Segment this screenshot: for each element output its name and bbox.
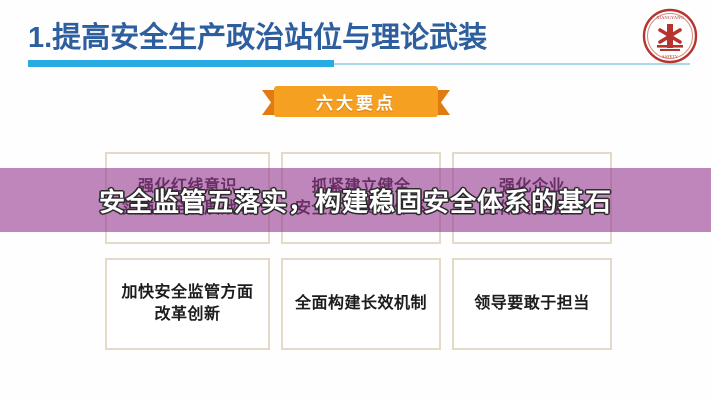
ribbon-body: 六大要点 xyxy=(274,86,438,117)
diagram-box-line: 领导要敢于担当 xyxy=(474,293,590,315)
caption-overlay-band: 安全监管五落实，构建稳固安全体系的基石 xyxy=(0,168,711,232)
diagram-box: 全面构建长效机制 xyxy=(281,258,441,350)
diagram-box-line: 改革创新 xyxy=(154,304,220,326)
company-seal-icon: XIANGYANG SAFETY xyxy=(642,8,698,64)
diagram-box-line: 加快安全监管方面 xyxy=(121,282,253,304)
section-ribbon: 六大要点 xyxy=(262,86,450,117)
ribbon-label: 六大要点 xyxy=(316,89,396,114)
diagram-box: 领导要敢于担当 xyxy=(452,258,612,350)
page-title: 1.提高安全生产政治站位与理论武装 xyxy=(28,14,487,56)
slide-canvas: 1.提高安全生产政治站位与理论武装 XIANGYANG SAFETY 六大要点 … xyxy=(0,0,711,400)
diagram-box: 加快安全监管方面 改革创新 xyxy=(105,258,270,350)
caption-text: 安全监管五落实，构建稳固安全体系的基石 xyxy=(99,182,612,219)
svg-text:SAFETY: SAFETY xyxy=(662,54,678,59)
header-underline-accent xyxy=(28,60,334,67)
svg-text:XIANGYANG: XIANGYANG xyxy=(656,15,684,20)
diagram-box-line: 全面构建长效机制 xyxy=(295,293,427,315)
